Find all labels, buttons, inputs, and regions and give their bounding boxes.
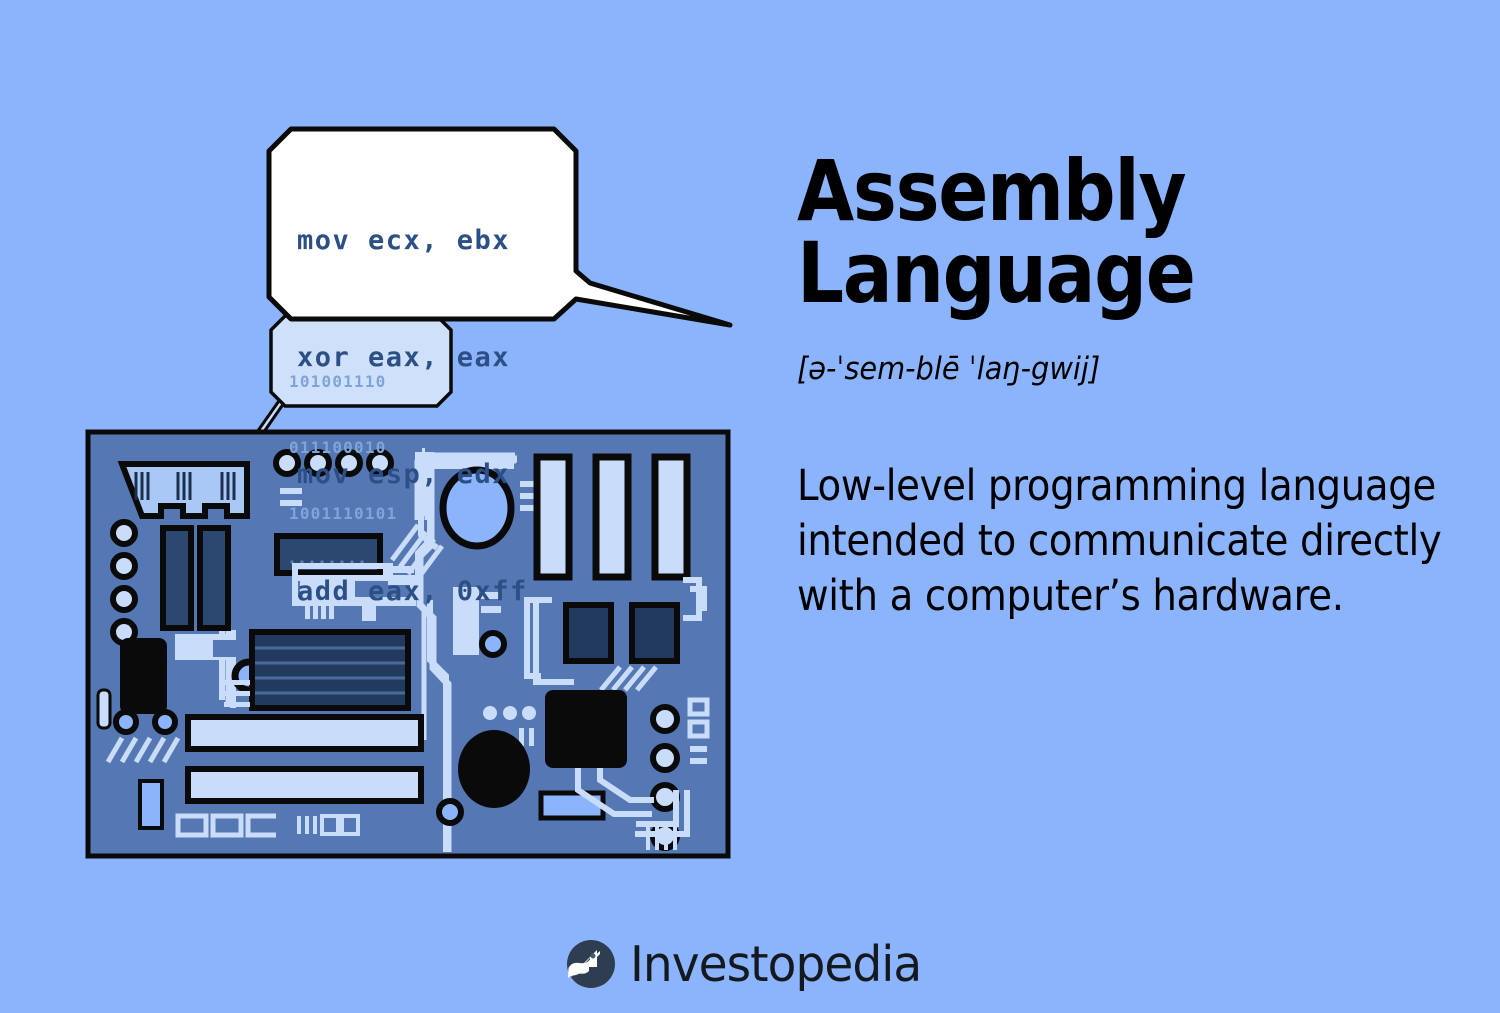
pad-lines: [224, 680, 250, 707]
definition-text: Low-level programming language intended …: [797, 459, 1468, 624]
ram-slot: [537, 457, 569, 577]
mount-hole: [458, 730, 530, 808]
io-port-block: [122, 464, 247, 516]
via-dot: [116, 712, 136, 732]
coin-battery: [443, 470, 511, 546]
infographic-canvas: mov ecx, ebx xor eax, eax mov esp, edx a…: [0, 0, 1500, 1013]
investopedia-mark-icon: [566, 939, 616, 989]
chip-dark: [632, 605, 677, 661]
small-component: [140, 781, 162, 828]
ram-slot: [655, 457, 687, 577]
title-line-2: Language: [797, 224, 1195, 322]
via-dot: [439, 801, 461, 823]
via-dot: [482, 633, 504, 655]
brand-logo[interactable]: Investopedia: [0, 939, 1500, 989]
capacitor: [653, 707, 677, 731]
expansion-slot: [188, 717, 421, 749]
brand-name: Investopedia: [630, 940, 921, 989]
motherboard-illustration: [0, 0, 760, 900]
illustration-area: [0, 0, 760, 900]
cpu-chip: [545, 690, 627, 768]
pronunciation: [ə-ˈsem-blē ˈlaŋ-gwij]: [797, 351, 1429, 387]
ram-slot: [596, 457, 628, 577]
heatsink: [252, 632, 408, 708]
small-component-left: [98, 690, 110, 728]
code-bubble-shape: [269, 129, 730, 325]
expansion-slot: [188, 769, 421, 801]
chip-black-left: [120, 638, 167, 714]
motherboard-body: [88, 432, 728, 856]
chip-dark: [566, 605, 611, 661]
page-title: AssemblyLanguage: [797, 150, 1395, 315]
component-bottom: [541, 793, 603, 818]
text-column: AssemblyLanguage [ə-ˈsem-blē ˈlaŋ-gwij] …: [797, 150, 1477, 624]
via-dot: [155, 712, 175, 732]
